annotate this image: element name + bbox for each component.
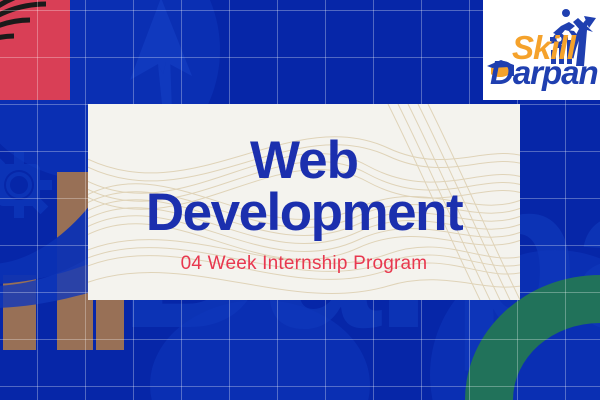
title-line-2: Development [146,187,462,239]
subtitle: 04 Week Internship Program [181,253,428,275]
logo-card[interactable]: Skill Darpan [483,0,600,100]
decorative-blob [150,300,370,400]
content-panel: Web Development 04 Week Internship Progr… [88,104,520,300]
upward-arrow-icon [130,0,280,116]
red-corner-accent [0,0,70,100]
page-title: Web Development [146,135,462,239]
title-line-1: Web [250,131,358,190]
logo-word-darpan: Darpan [490,56,598,89]
poster-canvas: Darpan [0,0,600,400]
